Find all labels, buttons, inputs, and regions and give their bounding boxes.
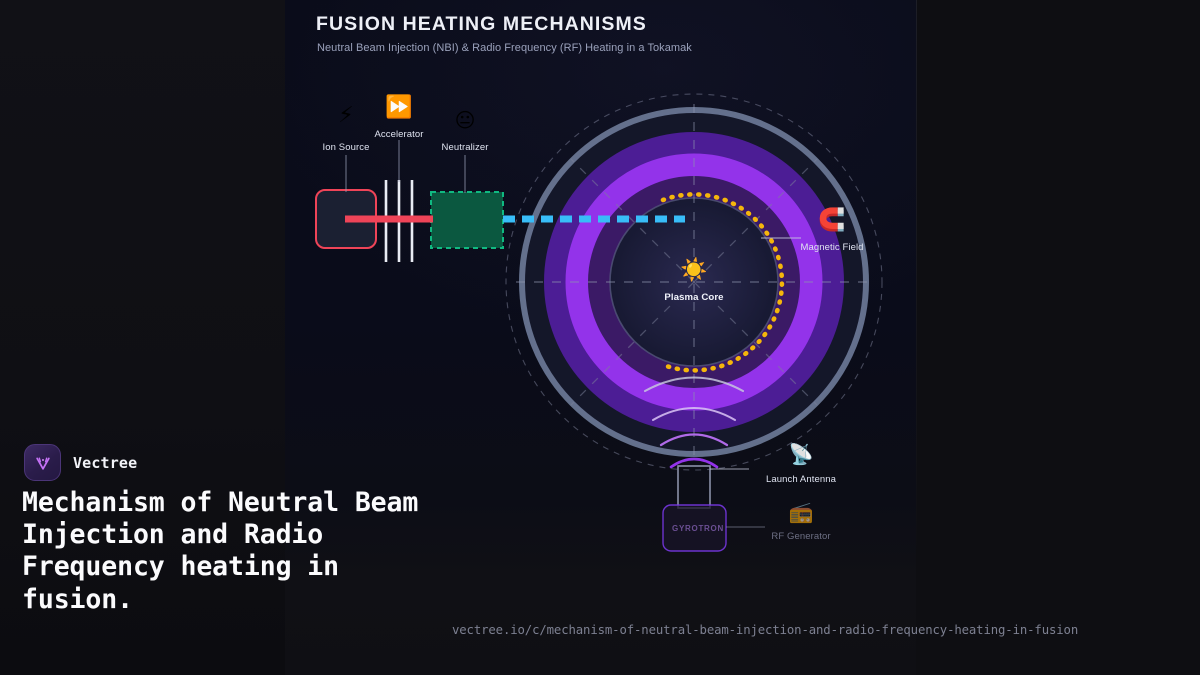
neutralizer-label: Neutralizer: [425, 143, 505, 153]
page-url: vectree.io/c/mechanism-of-neutral-beam-i…: [452, 623, 1078, 637]
neutral-face-icon: 😐: [445, 110, 485, 130]
lightning-bolt-icon: ⚡: [326, 105, 366, 127]
brand-block: Vectree: [24, 444, 137, 481]
ion-source-label: Ion Source: [306, 143, 386, 153]
panel-right-edge: [916, 0, 917, 560]
vectree-v-logo-icon: [24, 444, 61, 481]
plasma-core-label: Plasma Core: [644, 293, 744, 304]
sun-icon: ☀️: [674, 260, 714, 282]
neutralizer-box: [431, 192, 503, 248]
magnetic-field-label: Magnetic Field: [782, 243, 882, 253]
fast-forward-icon: ⏩: [379, 97, 419, 119]
waveguide-duct: [678, 466, 710, 508]
brand-headline: Mechanism of Neutral Beam Injection and …: [22, 487, 454, 616]
screenshot-canvas: FUSION HEATING MECHANISMS Neutral Beam I…: [0, 0, 1200, 675]
gyrotron-label: GYROTRON: [672, 524, 724, 533]
magnet-icon: 🧲: [812, 210, 852, 232]
rf-generator-label: RF Generator: [751, 532, 851, 542]
radio-icon: 📻: [781, 502, 821, 522]
brand-name: Vectree: [73, 454, 137, 472]
logo-glyph: [33, 453, 53, 473]
accelerator-label: Accelerator: [359, 130, 439, 140]
satellite-dish-icon: 📡: [781, 444, 821, 464]
launch-antenna-label: Launch Antenna: [751, 475, 851, 485]
